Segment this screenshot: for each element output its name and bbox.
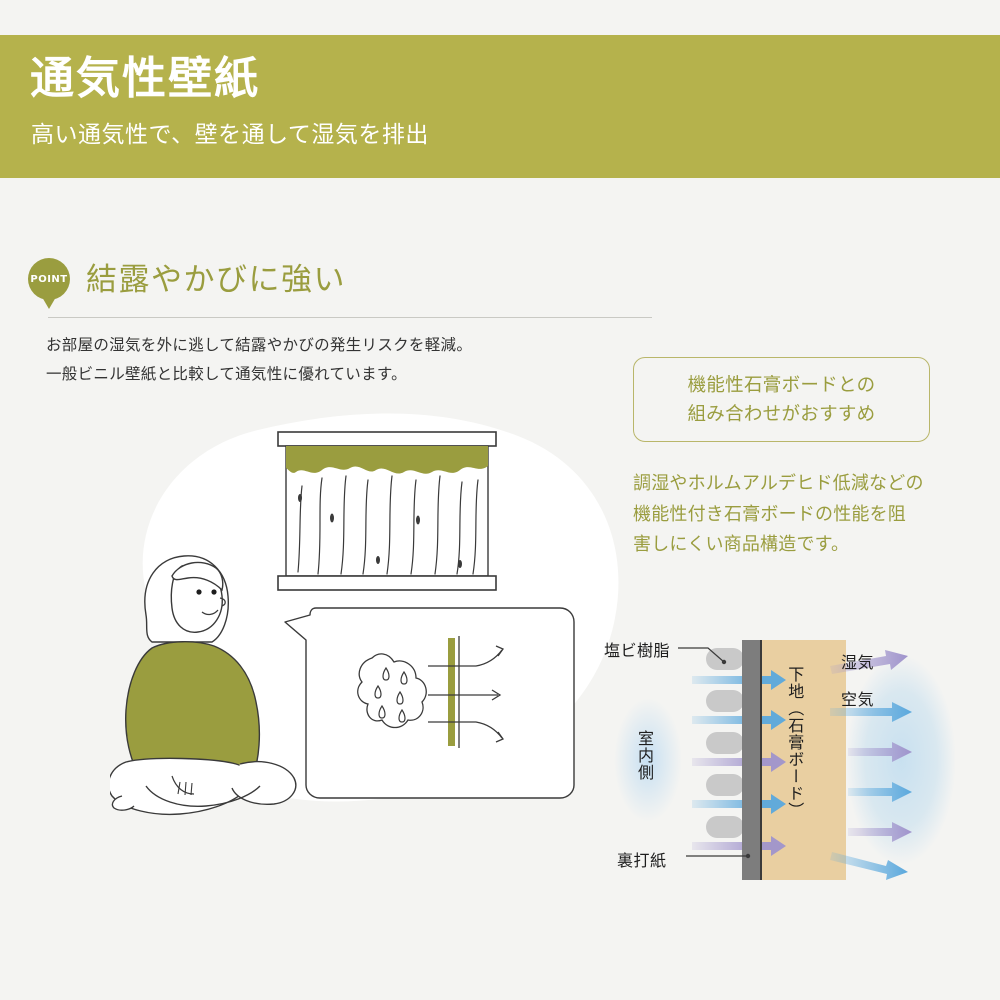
callout-line-2: 組み合わせがおすすめ <box>687 400 875 429</box>
label-backing-paper: 裏打紙 <box>617 847 667 871</box>
layer-divider-line <box>760 640 762 880</box>
lead-paragraph: お部屋の湿気を外に逃して結露やかびの発生リスクを軽減。 一般ビニル壁紙と比較して… <box>46 332 472 389</box>
window-sill <box>278 576 496 590</box>
right-body-line-3: 害しにくい商品構造です。 <box>633 529 924 560</box>
label-air: 空気 <box>841 686 874 710</box>
speech-bubble <box>285 608 574 798</box>
lead-line-2: 一般ビニル壁紙と比較して通気性に優れています。 <box>46 361 472 390</box>
window-top-rail <box>278 432 496 446</box>
pvc-leader-dot <box>722 660 726 664</box>
page-title: 通気性壁紙 <box>30 57 260 101</box>
condensation-illustration <box>110 400 630 870</box>
point-badge-icon: POINT <box>28 258 70 300</box>
label-pvc-resin: 塩ビ樹脂 <box>604 637 670 661</box>
backing-paper-layer <box>742 640 760 880</box>
window-mold <box>286 446 488 474</box>
callout-line-1: 機能性石膏ボードとの <box>688 371 876 400</box>
point-heading-row: POINT 結露やかびに強い <box>28 258 346 300</box>
section-heading: 結露やかびに強い <box>86 264 346 295</box>
infographic-page: 通気性壁紙 高い通気性で、壁を通して湿気を排出 POINT 結露やかびに強い お… <box>0 0 1000 1000</box>
backing-leader-dot <box>746 854 750 858</box>
right-body-text: 調湿やホルムアルデヒド低減などの 機能性付き石膏ボードの性能を阻 害しにくい商品… <box>633 468 924 560</box>
label-substrate: 下地（石膏ボード） <box>784 666 803 856</box>
label-moisture: 湿気 <box>841 649 874 673</box>
right-body-line-2: 機能性付き石膏ボードの性能を阻 <box>633 499 924 530</box>
right-body-line-1: 調湿やホルムアルデヒド低減などの <box>633 468 924 499</box>
section-divider <box>48 317 652 318</box>
bubble-wall-layer <box>448 638 455 746</box>
label-indoor-side: 室内側 <box>633 730 653 781</box>
header-banner: 通気性壁紙 高い通気性で、壁を通して湿気を排出 <box>0 35 1000 178</box>
page-subtitle: 高い通気性で、壁を通して湿気を排出 <box>31 123 429 146</box>
point-badge-label: POINT <box>30 274 67 285</box>
lead-line-1: お部屋の湿気を外に逃して結露やかびの発生リスクを軽減。 <box>46 332 472 361</box>
recommendation-callout: 機能性石膏ボードとの 組み合わせがおすすめ <box>633 357 930 442</box>
